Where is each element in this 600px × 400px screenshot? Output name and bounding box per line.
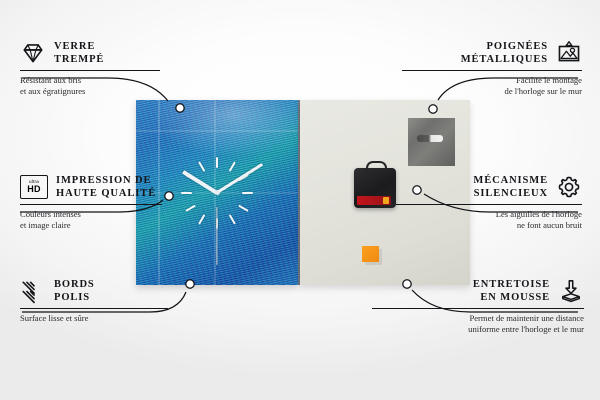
callout-title-line1: MÉCANISME [473,174,548,187]
diamond-icon [20,40,46,66]
callout-sub-line2: et aux égratignures [20,86,160,97]
ultra-hd-large-text: HD [27,185,41,194]
callout-sub-line1: Surface lisse et sûre [20,313,168,324]
ultra-hd-icon: ultra HD [20,175,48,199]
callout-poignees-metalliques[interactable]: POIGNÉES MÉTALLIQUES Facilite le montage… [402,40,582,97]
battery [357,196,391,205]
infographic-canvas: VERRE TREMPÉ Résistant aux bris et aux é… [0,0,600,400]
callout-title-line1: VERRE [54,40,104,53]
callout-impression-haute-qualite[interactable]: ultra HD IMPRESSION DE HAUTE QUALITÉ Cou… [20,174,162,231]
callout-sub-line1: Résistant aux bris [20,75,160,86]
callout-title-line2: EN MOUSSE [473,291,550,304]
callout-bords-polis[interactable]: BORDS POLIS Surface lisse et sûre [20,278,168,324]
callout-title-line1: BORDS [54,278,95,291]
callout-header: ultra HD IMPRESSION DE HAUTE QUALITÉ [20,174,162,200]
callout-header: VERRE TREMPÉ [20,40,160,66]
metal-hanger-bracket [408,118,455,166]
callout-title-line1: POIGNÉES [461,40,548,53]
movement-hanging-loop [366,161,387,172]
wall-frame-hook-icon [556,40,582,66]
callout-sub-line1: Facilite le montage [402,75,582,86]
callout-title-line2: TREMPÉ [54,53,104,66]
polished-edges-icon [20,278,46,304]
hands-center-cap [215,190,220,195]
callout-title-line2: MÉTALLIQUES [461,53,548,66]
callout-sub-line1: Les aiguilles de l'horloge [396,209,582,220]
callout-header: BORDS POLIS [20,278,168,304]
second-hand [216,207,217,265]
callout-sub-line1: Permet de maintenir une distance [372,313,584,324]
callout-sub-line2: ne font aucun bruit [396,220,582,231]
callout-verre-trempe[interactable]: VERRE TREMPÉ Résistant aux bris et aux é… [20,40,160,97]
callout-mecanisme-silencieux[interactable]: MÉCANISME SILENCIEUX Les aiguilles de l'… [396,174,582,231]
bracket-keyhole-slot [417,135,443,142]
callout-header: POIGNÉES MÉTALLIQUES [402,40,582,66]
quartz-movement [354,168,396,208]
callout-sub-line2: uniforme entre l'horloge et le mur [372,324,584,335]
callout-divider [20,70,160,71]
foam-spacer [362,246,379,262]
callout-sub-line2: de l'horloge sur le mur [402,86,582,97]
callout-title-line2: POLIS [54,291,95,304]
callout-entretoise-en-mousse[interactable]: ENTRETOISE EN MOUSSE Permet de maintenir… [372,278,584,335]
callout-header: MÉCANISME SILENCIEUX [396,174,582,200]
hour-hand [182,170,218,195]
callout-header: ENTRETOISE EN MOUSSE [372,278,584,304]
callout-sub-line1: Couleurs intenses [20,209,162,220]
press-down-pad-icon [558,278,584,304]
callout-sub-line2: et image claire [20,220,162,231]
callout-divider [20,308,168,309]
callout-divider [402,70,582,71]
callout-title-line2: HAUTE QUALITÉ [56,187,156,200]
callout-title-line1: ENTRETOISE [473,278,550,291]
callout-title-line2: SILENCIEUX [473,187,548,200]
callout-title-line1: IMPRESSION DE [56,174,156,187]
callout-divider [372,308,584,309]
minute-hand [216,162,264,193]
callout-divider [396,204,582,205]
callout-divider [20,204,162,205]
gear-icon [556,174,582,200]
